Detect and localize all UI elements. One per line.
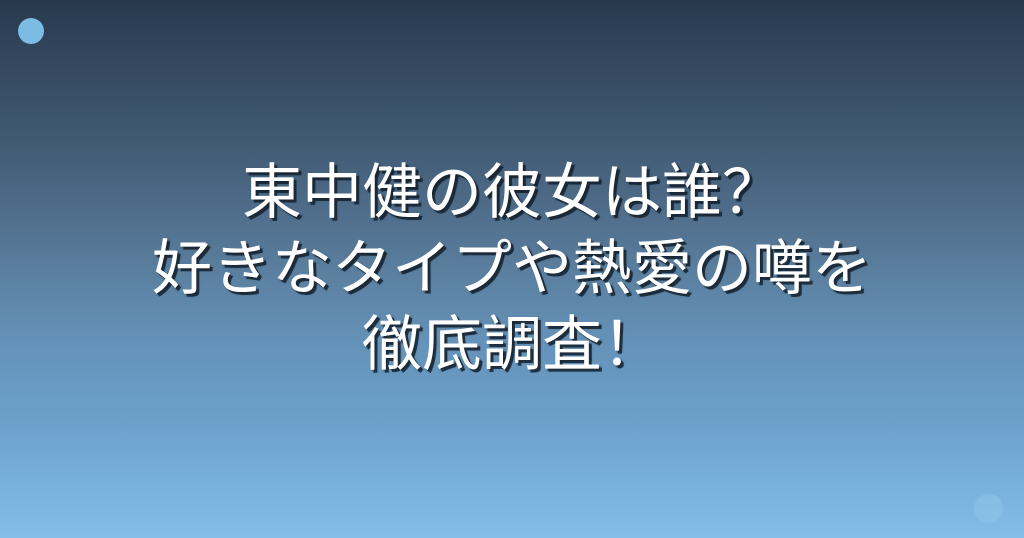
- title-line-1: 東中健の彼女は誰？: [242, 155, 782, 231]
- title-line-2: 好きなタイプや熱愛の噂を: [152, 231, 872, 307]
- title-card-canvas: 東中健の彼女は誰？ 好きなタイプや熱愛の噂を 徹底調査！: [0, 0, 1024, 538]
- title-line-3: 徹底調査！: [362, 307, 662, 383]
- page-title: 東中健の彼女は誰？ 好きなタイプや熱愛の噂を 徹底調査！: [0, 0, 1024, 538]
